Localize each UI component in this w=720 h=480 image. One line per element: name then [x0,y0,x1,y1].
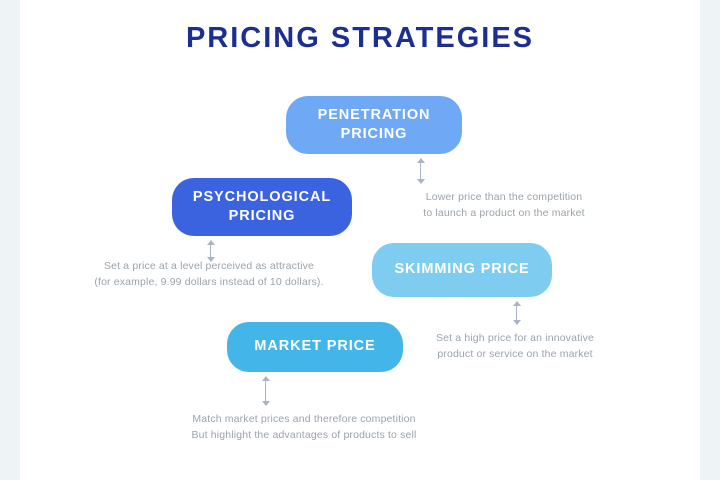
node-market-label: MARKET PRICE [254,337,375,356]
node-penetration-pricing[interactable]: PENETRATION PRICING [286,96,462,154]
arrow-down-icon [262,401,270,406]
page-edge-right [700,0,720,480]
caption-skimming-line1: Set a high price for an innovative [436,331,594,347]
caption-psychological: Set a price at a level perceived as attr… [94,259,323,291]
caption-penetration-line2: to launch a product on the market [423,206,584,222]
caption-skimming: Set a high price for an innovative produ… [436,331,594,363]
node-psychological-label: PSYCHOLOGICAL PRICING [193,188,331,226]
caption-skimming-line2: product or service on the market [436,347,594,363]
caption-psychological-line1: Set a price at a level perceived as attr… [94,259,323,275]
node-skimming-label: SKIMMING PRICE [394,260,529,279]
node-penetration-line2: PRICING [341,126,408,142]
caption-market: Match market prices and therefore compet… [192,412,417,444]
page-title: PRICING STRATEGIES [0,22,720,55]
arrow-up-icon [262,376,270,381]
caption-market-line1: Match market prices and therefore compet… [192,412,417,428]
arrow-down-icon [513,320,521,325]
node-penetration-label: PENETRATION PRICING [318,106,431,144]
caption-market-line2: But highlight the advantages of products… [192,428,417,444]
caption-penetration: Lower price than the competition to laun… [423,190,584,222]
node-psychological-line1: PSYCHOLOGICAL [193,189,331,205]
node-psychological-pricing[interactable]: PSYCHOLOGICAL PRICING [172,178,352,236]
arrow-up-icon [513,301,521,306]
node-psychological-line2: PRICING [229,208,296,224]
connector-penetration-stem [420,161,421,181]
infographic-canvas: PRICING STRATEGIES PENETRATION PRICING L… [0,0,720,480]
node-skimming-price[interactable]: SKIMMING PRICE [372,243,552,297]
caption-psychological-line2: (for example, 9.99 dollars instead of 10… [94,275,323,291]
arrow-up-icon [417,158,425,163]
caption-penetration-line1: Lower price than the competition [423,190,584,206]
node-penetration-line1: PENETRATION [318,107,431,123]
connector-penetration [416,158,425,184]
connector-market [261,376,270,406]
arrow-up-icon [207,240,215,245]
page-edge-left [0,0,20,480]
connector-market-stem [265,379,266,403]
node-market-price[interactable]: MARKET PRICE [227,322,403,372]
connector-skimming [512,301,521,325]
arrow-down-icon [417,179,425,184]
